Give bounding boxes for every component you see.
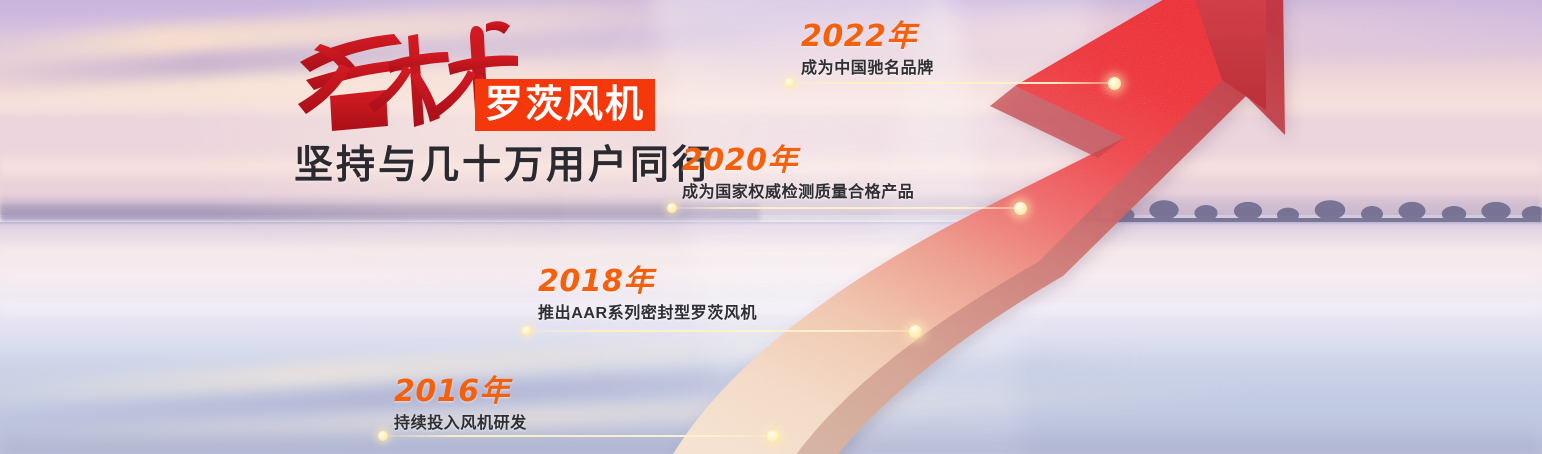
connector-stroke [672,207,1020,209]
product-badge-label: 罗茨风机 [485,85,645,123]
milestone-desc: 推出AAR系列密封型罗茨风机 [538,306,757,322]
connector-stroke [790,82,1114,84]
promo-banner: 罗茨风机 坚持与几十万用户同行 2022年 成为中国驰名品牌 2020年 成为国… [0,0,1542,454]
milestone-2018: 2018年 推出AAR系列密封型罗茨风机 [538,267,757,322]
growth-arrow [0,0,1542,454]
connector-dot-end [1014,202,1027,215]
milestone-year: 2020年 [682,146,914,176]
connector-line-2016 [383,435,773,437]
connector-dot-start [667,203,677,213]
connector-line-2020 [672,207,1020,209]
connector-dot-end [1108,77,1121,90]
connector-dot-start [378,431,388,441]
connector-stroke [383,435,773,437]
connector-dot-end [767,430,780,443]
milestone-desc: 持续投入风机研发 [394,416,527,432]
milestone-year: 2016年 [394,377,527,407]
milestone-year: 2018年 [538,267,757,297]
milestone-2016: 2016年 持续投入风机研发 [394,377,527,432]
brand-slogan: 坚持与几十万用户同行 [294,146,714,185]
connector-dot-start [522,326,532,336]
milestone-2022: 2022年 成为中国驰名品牌 [801,22,934,77]
milestone-desc: 成为中国驰名品牌 [801,61,934,77]
connector-dot-end [909,325,922,338]
milestone-year: 2022年 [801,22,934,52]
brand-block: 罗茨风机 坚持与几十万用户同行 [290,18,690,208]
product-badge: 罗茨风机 [475,79,655,131]
connector-stroke [527,330,915,332]
milestone-2020: 2020年 成为国家权威检测质量合格产品 [682,146,914,201]
connector-line-2018 [527,330,915,332]
arrow-texture [664,0,1266,454]
connector-dot-start [785,78,795,88]
connector-line-2022 [790,82,1114,84]
milestone-desc: 成为国家权威检测质量合格产品 [682,185,914,201]
